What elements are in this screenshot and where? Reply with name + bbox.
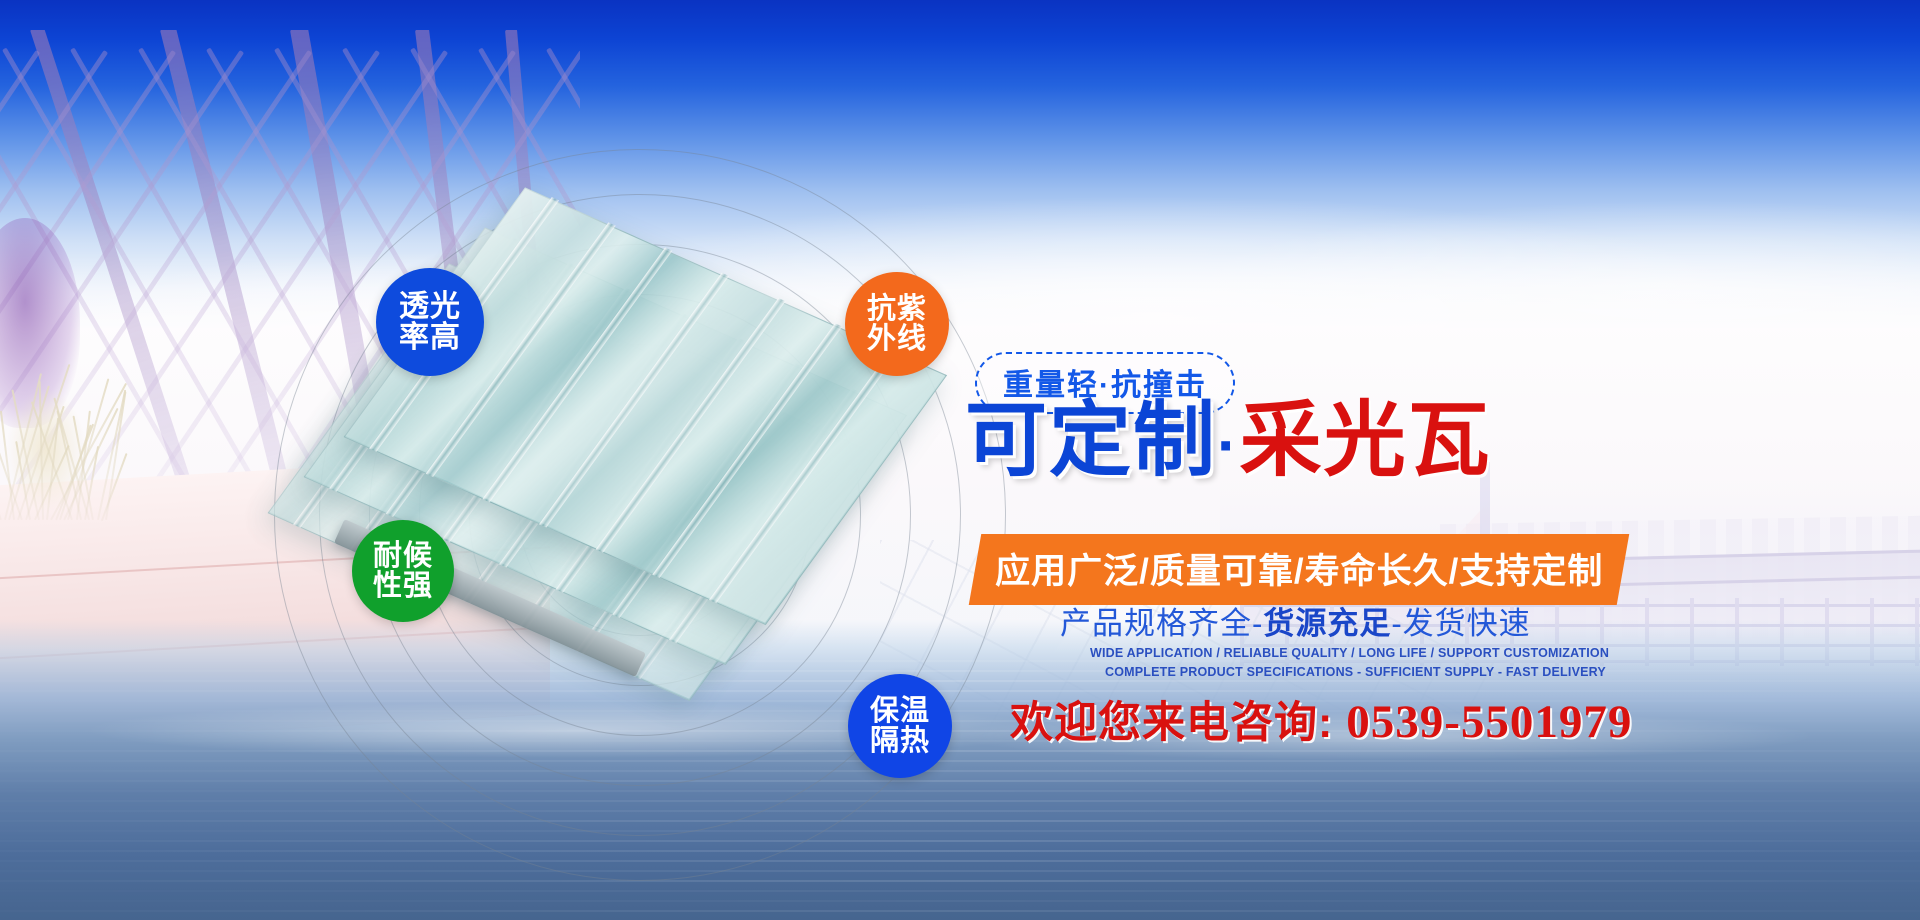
subline-pre: 产品规格齐全- xyxy=(1060,606,1263,641)
badge-line-2: 外线 xyxy=(867,324,927,354)
badge-line-1: 保温 xyxy=(870,696,930,726)
badge-line-1: 抗紫 xyxy=(867,294,927,324)
badge-line-1: 耐候 xyxy=(373,541,433,571)
pampas-grass xyxy=(0,330,124,530)
headline: 可定制·采光瓦 xyxy=(965,400,1492,482)
badge-weather-resistant[interactable]: 耐候 性强 xyxy=(352,520,454,622)
badge-thermal-insulation[interactable]: 保温 隔热 xyxy=(848,674,952,778)
headline-customizable: 可定制 xyxy=(965,395,1217,486)
feature-strip: 应用广泛/质量可靠/寿命长久/支持定制 xyxy=(969,534,1630,605)
contact-label: 欢迎您来电咨询: xyxy=(1010,699,1333,747)
english-line-2: COMPLETE PRODUCT SPECIFICATIONS - SUFFIC… xyxy=(1105,665,1606,679)
supply-subline: 产品规格齐全-货源充足-发货快速 xyxy=(1060,598,1531,643)
badge-line-1: 透光 xyxy=(399,291,461,323)
grass-blade xyxy=(0,426,2,520)
badge-line-2: 性强 xyxy=(373,571,433,601)
badge-uv-resistant[interactable]: 抗紫 外线 xyxy=(845,272,949,376)
headline-separator: · xyxy=(1217,411,1240,480)
feature-strip-text: 应用广泛/质量可靠/寿命长久/支持定制 xyxy=(995,543,1603,594)
contact-line: 欢迎您来电咨询: 0539-5501979 xyxy=(1010,688,1632,750)
contact-phone-number: 0539-5501979 xyxy=(1346,696,1632,748)
headline-daylight-tile: 采光瓦 xyxy=(1240,395,1492,486)
badge-light-transmission[interactable]: 透光 率高 xyxy=(376,268,484,376)
water-ripple xyxy=(0,890,1920,892)
badge-line-2: 隔热 xyxy=(870,726,930,756)
water-ripple xyxy=(0,910,1920,912)
subline-bold: 货源充足 xyxy=(1263,606,1391,641)
subline-post: -发货快速 xyxy=(1391,606,1530,641)
water-ripple xyxy=(0,900,1920,902)
product-banner: 透光 率高 抗紫 外线 耐候 性强 保温 隔热 重量轻·抗撞击 可定制·采光瓦 … xyxy=(0,0,1920,920)
english-line-1: WIDE APPLICATION / RELIABLE QUALITY / LO… xyxy=(1090,646,1609,660)
badge-line-2: 率高 xyxy=(399,322,461,354)
